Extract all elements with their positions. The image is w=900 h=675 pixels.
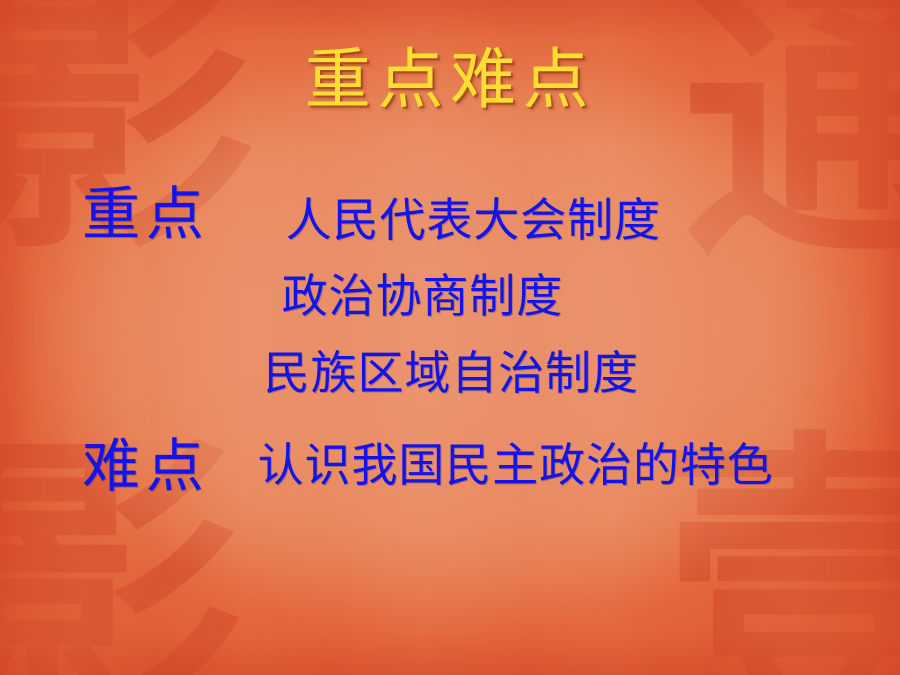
section-label-key-points: 重点: [82, 184, 210, 245]
key-point-item: 政治协商制度: [282, 258, 661, 334]
presentation-slide: 影 通 影 壹 重点难点 重点 人民代表大会制度 政治协商制度 民族区域自治制度…: [0, 0, 900, 675]
slide-content: 重点难点 重点 人民代表大会制度 政治协商制度 民族区域自治制度 难点 认识我国…: [0, 0, 900, 675]
difficult-point-item: 认识我国民主政治的特色: [258, 436, 774, 496]
section-difficult-points: 难点 认识我国民主政治的特色: [82, 436, 774, 497]
section-key-points: 重点 人民代表大会制度 政治协商制度 民族区域自治制度: [82, 182, 661, 411]
key-point-item: 人民代表大会制度: [286, 182, 661, 258]
difficult-points-list: 认识我国民主政治的特色: [258, 436, 774, 496]
slide-title: 重点难点: [0, 44, 900, 115]
section-label-difficult-points: 难点: [82, 436, 210, 497]
key-points-list: 人民代表大会制度 政治协商制度 民族区域自治制度: [264, 182, 661, 411]
key-point-item: 民族区域自治制度: [264, 335, 661, 411]
